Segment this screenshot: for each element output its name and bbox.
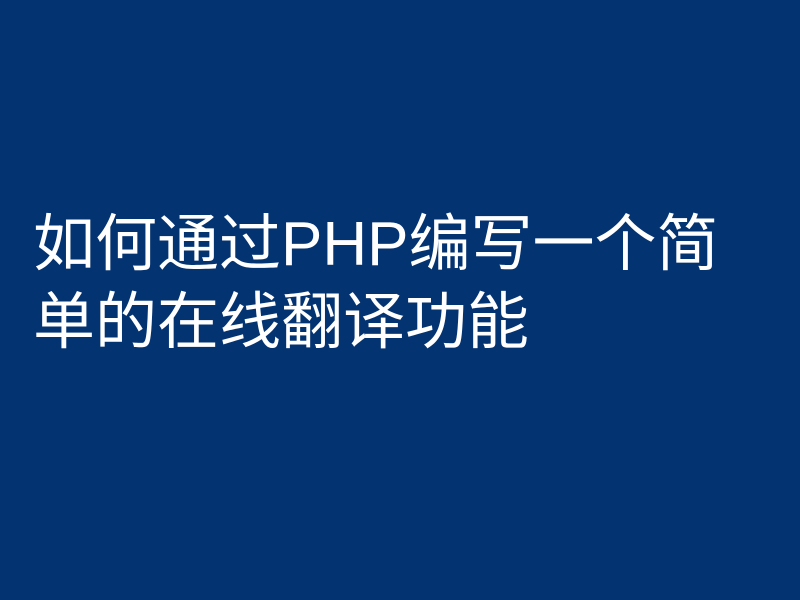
page-title: 如何通过PHP编写一个简单的在线翻译功能 bbox=[33, 206, 775, 362]
title-card: 如何通过PHP编写一个简单的在线翻译功能 bbox=[0, 0, 800, 600]
title-text-block: 如何通过PHP编写一个简单的在线翻译功能 bbox=[33, 206, 775, 362]
